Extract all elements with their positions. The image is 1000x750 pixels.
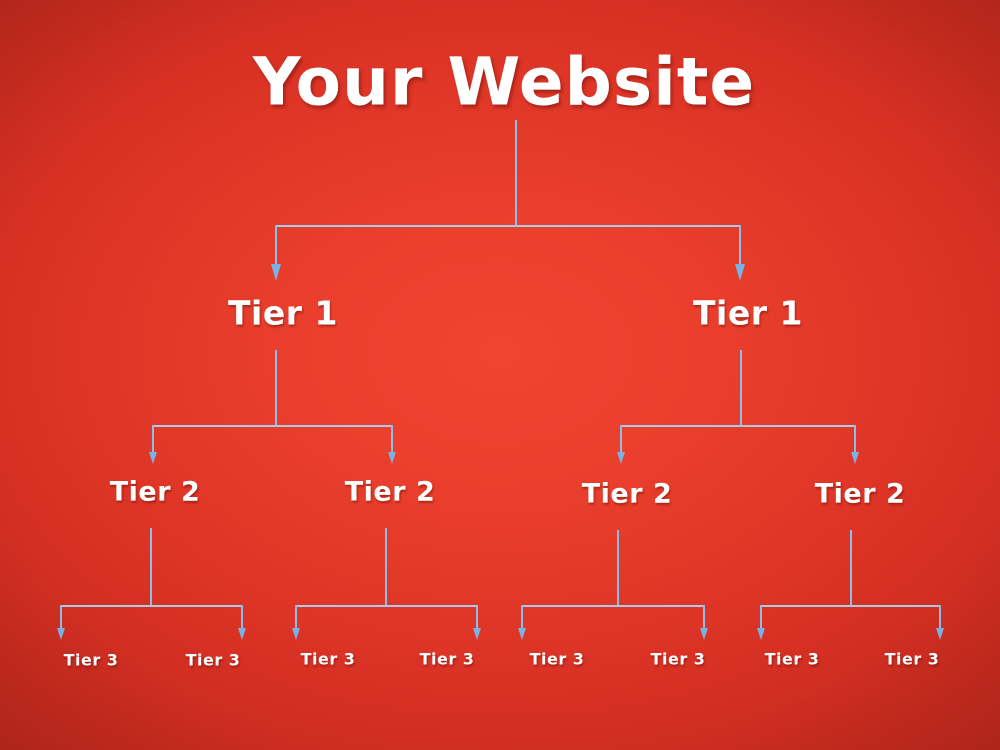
arrow-head-icon (936, 628, 944, 640)
node-tier3-5: Tier 3 (530, 650, 585, 669)
node-tier1-2: Tier 1 (693, 294, 803, 333)
connector-tier1-right-to-tier2-a (620, 425, 622, 455)
connector-tier2-3-stem (617, 530, 619, 606)
connector-tier1-right-to-tier2-b (854, 425, 856, 455)
page-title: Your Website (253, 44, 755, 121)
node-tier3-7: Tier 3 (765, 650, 820, 669)
connector-root-bar (275, 225, 741, 227)
sitemap-slide: Your Website Tier 1 Tier 1 Tier 2 Tier 2… (0, 0, 1000, 750)
connector-tier2-4-stem (850, 530, 852, 606)
node-tier3-4: Tier 3 (420, 650, 475, 669)
connector-tier1-right-bar (620, 425, 856, 427)
node-tier3-2: Tier 3 (186, 651, 241, 670)
connector-tier2-2-bar (295, 605, 478, 607)
node-tier3-1: Tier 3 (64, 651, 119, 670)
node-tier1-1: Tier 1 (228, 294, 338, 333)
arrow-head-icon (292, 628, 300, 640)
connector-tier2-3-bar (521, 605, 705, 607)
arrow-head-icon (518, 628, 526, 640)
connector-tier1-left-to-tier2-b (391, 425, 393, 455)
connector-root-to-tier1-left (275, 225, 277, 267)
connector-tier1-right-stem (740, 350, 742, 426)
arrow-head-icon (149, 452, 157, 464)
arrow-head-icon (57, 628, 65, 640)
node-tier2-3: Tier 2 (582, 479, 673, 510)
connector-tier1-left-to-tier2-a (152, 425, 154, 455)
arrow-head-icon (700, 628, 708, 640)
arrow-head-icon (473, 628, 481, 640)
arrow-head-icon (617, 452, 625, 464)
connector-tier2-4-bar (760, 605, 941, 607)
node-tier2-4: Tier 2 (815, 479, 906, 510)
arrow-head-icon (851, 452, 859, 464)
arrow-head-icon (735, 264, 745, 281)
arrow-head-icon (271, 264, 281, 281)
connector-tier2-1-stem (150, 528, 152, 606)
node-tier2-2: Tier 2 (345, 477, 436, 508)
arrow-head-icon (388, 452, 396, 464)
node-tier3-8: Tier 3 (885, 650, 940, 669)
connector-tier1-left-bar (152, 425, 393, 427)
connector-tier2-1-bar (60, 605, 243, 607)
connector-tier2-2-stem (385, 528, 387, 606)
connector-tier1-left-stem (275, 350, 277, 426)
node-tier3-6: Tier 3 (651, 650, 706, 669)
arrow-head-icon (238, 628, 246, 640)
node-tier2-1: Tier 2 (110, 477, 201, 508)
connector-root-stem (515, 120, 517, 226)
connector-root-to-tier1-right (739, 225, 741, 267)
node-tier3-3: Tier 3 (301, 650, 356, 669)
arrow-head-icon (757, 628, 765, 640)
